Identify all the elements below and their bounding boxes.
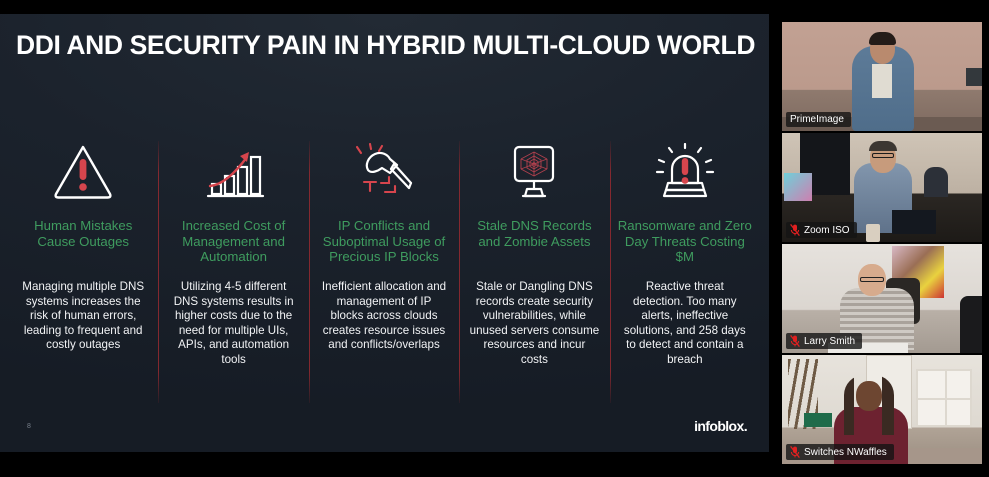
pain-point-heading-5: Ransomware and Zero Day Threats Costing … bbox=[618, 218, 752, 280]
pain-point-body-1: Managing multiple DNS systems increases … bbox=[16, 280, 150, 353]
participant-name: PrimeImage bbox=[790, 114, 844, 125]
screen-share-meeting-view: DDI AND SECURITY PAIN IN HYBRID MULTI-CL… bbox=[0, 0, 989, 477]
pain-point-column-3: IP Conflicts and Suboptimal Usage of Pre… bbox=[309, 136, 459, 411]
video-shelf bbox=[916, 369, 972, 427]
pain-point-heading-2: Increased Cost of Management and Automat… bbox=[166, 218, 300, 280]
participant-tile-primeimage[interactable]: PrimeImage bbox=[782, 22, 982, 131]
pain-point-body-3: Inefficient allocation and management of… bbox=[317, 280, 451, 353]
hammer-nails-icon bbox=[351, 136, 417, 208]
page-title: DDI AND SECURITY PAIN IN HYBRID MULTI-CL… bbox=[16, 30, 756, 61]
participant-tile-switches-nwaffles[interactable]: Switches NWaffles bbox=[782, 355, 982, 464]
slide-page-number: 8 bbox=[27, 423, 31, 430]
monitor-spiderweb-icon bbox=[503, 136, 565, 208]
video-decor-sign bbox=[804, 413, 832, 427]
logo-text: infoblox bbox=[694, 418, 744, 434]
alarm-siren-icon bbox=[654, 136, 716, 208]
pain-point-column-1: Human Mistakes Cause Outages Managing mu… bbox=[8, 136, 158, 411]
video-person-hair bbox=[869, 32, 896, 45]
participant-tile-zoom-iso[interactable]: Zoom ISO bbox=[782, 133, 982, 242]
participant-name-badge: Switches NWaffles bbox=[786, 444, 894, 460]
video-person-hair bbox=[844, 375, 894, 435]
participant-name: Zoom ISO bbox=[804, 225, 850, 236]
participant-name: Switches NWaffles bbox=[804, 447, 887, 458]
video-wall-screen bbox=[966, 68, 982, 86]
shared-slide: DDI AND SECURITY PAIN IN HYBRID MULTI-CL… bbox=[0, 14, 769, 452]
pain-points-row: Human Mistakes Cause Outages Managing mu… bbox=[8, 136, 760, 411]
pain-point-heading-1: Human Mistakes Cause Outages bbox=[16, 218, 150, 280]
infoblox-logo: infoblox. bbox=[694, 418, 747, 434]
video-person-glasses bbox=[860, 277, 884, 282]
pain-point-body-5: Reactive threat detection. Too many aler… bbox=[618, 280, 752, 368]
video-laptop bbox=[892, 210, 936, 234]
video-cup bbox=[866, 224, 880, 242]
video-equipment bbox=[960, 296, 982, 353]
video-background-person bbox=[784, 173, 812, 201]
participant-name-badge: Larry Smith bbox=[786, 333, 862, 349]
logo-mark: . bbox=[744, 418, 747, 434]
participant-tile-larry-smith[interactable]: Larry Smith bbox=[782, 244, 982, 353]
microphone-muted-icon bbox=[790, 446, 800, 458]
video-person-shirt bbox=[872, 64, 892, 98]
rising-bar-chart-icon bbox=[203, 136, 265, 208]
participant-name-badge: PrimeImage bbox=[786, 112, 851, 127]
participant-name: Larry Smith bbox=[804, 336, 855, 347]
pain-point-column-4: Stale DNS Records and Zombie Assets Stal… bbox=[459, 136, 609, 411]
pain-point-heading-3: IP Conflicts and Suboptimal Usage of Pre… bbox=[317, 218, 451, 280]
pain-point-column-2: Increased Cost of Management and Automat… bbox=[158, 136, 308, 411]
pain-point-body-2: Utilizing 4-5 different DNS systems resu… bbox=[166, 280, 300, 368]
pain-point-heading-4: Stale DNS Records and Zombie Assets bbox=[467, 218, 601, 280]
participant-name-badge: Zoom ISO bbox=[786, 222, 857, 238]
video-background-person-2 bbox=[924, 167, 948, 197]
video-person-glasses bbox=[872, 153, 894, 158]
video-person-hair bbox=[869, 141, 897, 151]
pain-point-column-5: Ransomware and Zero Day Threats Costing … bbox=[610, 136, 760, 411]
pain-point-body-4: Stale or Dangling DNS records create sec… bbox=[467, 280, 601, 368]
microphone-muted-icon bbox=[790, 335, 800, 347]
warning-triangle-icon bbox=[52, 136, 114, 208]
participant-filmstrip[interactable]: PrimeImage Zoom ISO bbox=[782, 22, 982, 466]
microphone-muted-icon bbox=[790, 224, 800, 236]
